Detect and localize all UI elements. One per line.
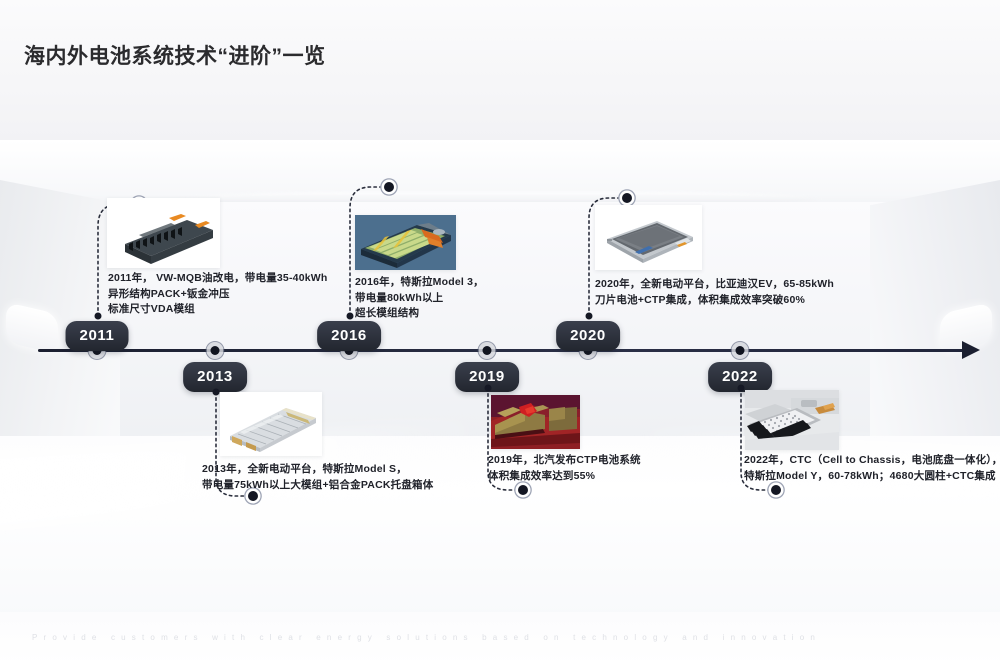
caption-2022-line-1: 2022年，CTC（Cell to Chassis，电池底盘一体化），	[744, 453, 1000, 469]
axis-node-2013	[211, 346, 220, 355]
connector-dot-2016-upper	[384, 182, 394, 192]
year-pill-2013[interactable]: 2013	[183, 362, 247, 392]
caption-2011-line-3: 标准尺寸VDA模组	[108, 302, 328, 318]
year-pill-2016[interactable]: 2016	[317, 321, 381, 351]
caption-2016-line-1: 2016年，特斯拉Model 3，	[355, 275, 484, 291]
thumbnail-card-2011[interactable]	[107, 198, 220, 268]
background-top-band	[0, 0, 1000, 142]
connector-dot-2019-lower	[518, 485, 528, 495]
caption-2020: 2020年，全新电动平台，比亚迪汉EV，65-85kWh 刀片电池+CTP集成，…	[595, 277, 834, 308]
thumbnail-card-2016[interactable]	[355, 215, 456, 270]
caption-2016: 2016年，特斯拉Model 3， 带电量80kWh以上 超长模组结构	[355, 275, 484, 322]
caption-2022-line-2: 特斯拉Model Y，60-78kWh；4680大圆柱+CTC集成	[744, 469, 1000, 485]
caption-2019-line-2: 体积集成效率达到55%	[488, 469, 641, 485]
battery-pack-vw-mqb-photo	[107, 198, 220, 268]
caption-2011: 2011年， VW-MQB油改电，带电量35-40kWh 异形结构PACK+钣金…	[108, 271, 328, 318]
battery-pack-baic-ctp-photo	[491, 395, 580, 449]
slide-canvas: 海内外电池系统技术“进阶”一览 2011	[0, 0, 1000, 666]
caption-2011-line-2: 异形结构PACK+钣金冲压	[108, 287, 328, 303]
timeline-axis-line	[38, 349, 976, 352]
connector-dot-2022-lower	[771, 485, 781, 495]
year-pill-2011[interactable]: 2011	[66, 321, 129, 351]
connector-dot-2020-lower	[586, 313, 593, 320]
axis-node-2019	[483, 346, 492, 355]
caption-2013-line-2: 带电量75kWh以上大模组+铝合金PACK托盘箱体	[202, 478, 433, 494]
caption-2020-line-1: 2020年，全新电动平台，比亚迪汉EV，65-85kWh	[595, 277, 834, 293]
page-title: 海内外电池系统技术“进阶”一览	[24, 40, 326, 70]
connector-dot-2019-upper	[485, 385, 492, 392]
connector-dot-2013-upper	[213, 389, 220, 396]
caption-2019: 2019年，北汽发布CTP电池系统 体积集成效率达到55%	[488, 453, 641, 484]
caption-2016-line-2: 带电量80kWh以上	[355, 291, 484, 307]
thumbnail-card-2019[interactable]	[491, 395, 580, 449]
connector-dot-2016-lower	[347, 313, 354, 320]
thumbnail-card-2013[interactable]	[220, 392, 322, 456]
battery-pack-tesla-model-s-photo	[220, 392, 322, 456]
caption-2011-line-1: 2011年， VW-MQB油改电，带电量35-40kWh	[108, 271, 328, 287]
arrow-right-icon	[962, 341, 980, 359]
axis-node-2022	[736, 346, 745, 355]
caption-2022: 2022年，CTC（Cell to Chassis，电池底盘一体化）， 特斯拉M…	[744, 453, 1000, 484]
footer-tagline: Provide customers with clear energy solu…	[32, 633, 968, 642]
battery-pack-byd-han-blade-photo	[595, 205, 702, 270]
caption-2019-line-1: 2019年，北汽发布CTP电池系统	[488, 453, 641, 469]
caption-2013: 2013年，全新电动平台，特斯拉Model S， 带电量75kWh以上大模组+铝…	[202, 462, 433, 493]
connector-dot-2022-upper	[738, 385, 745, 392]
battery-pack-tesla-model-y-ctc-photo	[745, 390, 839, 450]
caption-2016-line-3: 超长模组结构	[355, 306, 484, 322]
thumbnail-card-2022[interactable]	[745, 390, 839, 450]
caption-2020-line-2: 刀片电池+CTP集成，体积集成效率突破60%	[595, 293, 834, 309]
battery-pack-tesla-model-3-photo	[355, 215, 456, 270]
connector-dot-2011-lower	[95, 313, 102, 320]
year-pill-2020[interactable]: 2020	[556, 321, 620, 351]
caption-2013-line-1: 2013年，全新电动平台，特斯拉Model S，	[202, 462, 433, 478]
thumbnail-card-2020[interactable]	[595, 205, 702, 270]
connector-dot-2020-upper	[622, 193, 632, 203]
